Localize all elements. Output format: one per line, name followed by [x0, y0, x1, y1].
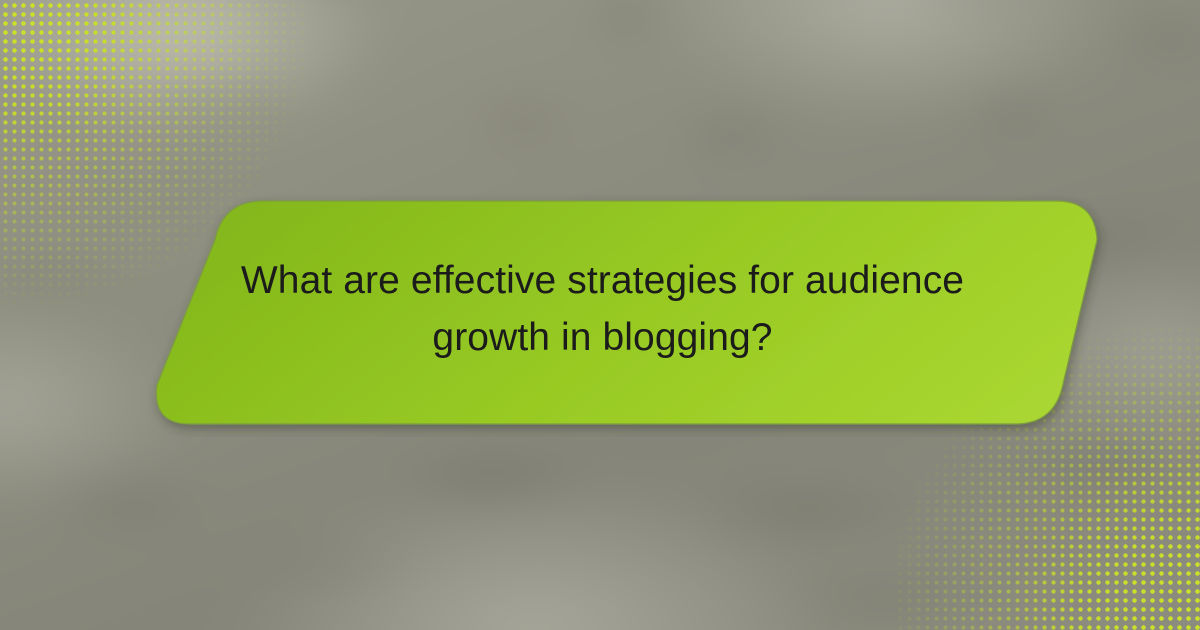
poster-canvas: What are effective strategies for audien… — [0, 0, 1200, 630]
quote-card: What are effective strategies for audien… — [95, 192, 1110, 437]
quote-line-1: What are effective strategies for audien… — [241, 252, 964, 309]
quote-text-block: What are effective strategies for audien… — [245, 192, 960, 425]
quote-line-2: growth in blogging? — [432, 309, 772, 366]
